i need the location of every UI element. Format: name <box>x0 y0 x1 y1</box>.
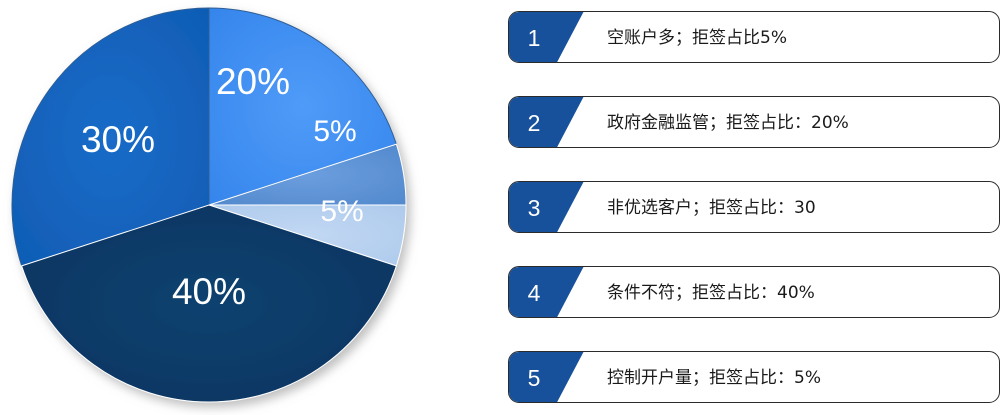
legend-text-5: 控制开户量；拒签占比：5% <box>607 352 821 403</box>
legend-number-4: 4 <box>509 267 559 318</box>
legend-number-2: 2 <box>509 97 559 148</box>
pie-label-5-light: 5% <box>320 195 363 228</box>
legend-number-1: 1 <box>509 12 559 63</box>
legend-item-1[interactable]: 1 空账户多；拒签占比5% <box>508 11 1000 63</box>
pie-label-20: 20% <box>216 61 290 102</box>
legend-text-2: 政府金融监管；拒签占比：20% <box>607 97 849 148</box>
legend-number-3: 3 <box>509 182 559 233</box>
pie-label-30: 30% <box>81 119 155 160</box>
legend-text-1: 空账户多；拒签占比5% <box>607 12 787 63</box>
pie-chart: 20% 5% 5% 40% 30% <box>0 0 470 415</box>
pie-label-5-medium: 5% <box>313 115 356 148</box>
legend-list: 1 空账户多；拒签占比5% 2 政府金融监管；拒签占比：20% 3 非优选客户；… <box>508 0 1008 415</box>
legend-item-5[interactable]: 5 控制开户量；拒签占比：5% <box>508 351 1000 403</box>
pie-label-40: 40% <box>172 271 246 312</box>
legend-item-2[interactable]: 2 政府金融监管；拒签占比：20% <box>508 96 1000 148</box>
legend-item-4[interactable]: 4 条件不符；拒签占比：40% <box>508 266 1000 318</box>
legend-text-3: 非优选客户；拒签占比：30 <box>607 182 816 233</box>
legend-item-3[interactable]: 3 非优选客户；拒签占比：30 <box>508 181 1000 233</box>
pie-chart-infographic: 20% 5% 5% 40% 30% 1 空账户多；拒签占比5% 2 政府金融监管… <box>0 0 1008 415</box>
legend-text-4: 条件不符；拒签占比：40% <box>607 267 815 318</box>
legend-number-5: 5 <box>509 352 559 403</box>
pie-chart-panel: 20% 5% 5% 40% 30% <box>0 0 470 415</box>
